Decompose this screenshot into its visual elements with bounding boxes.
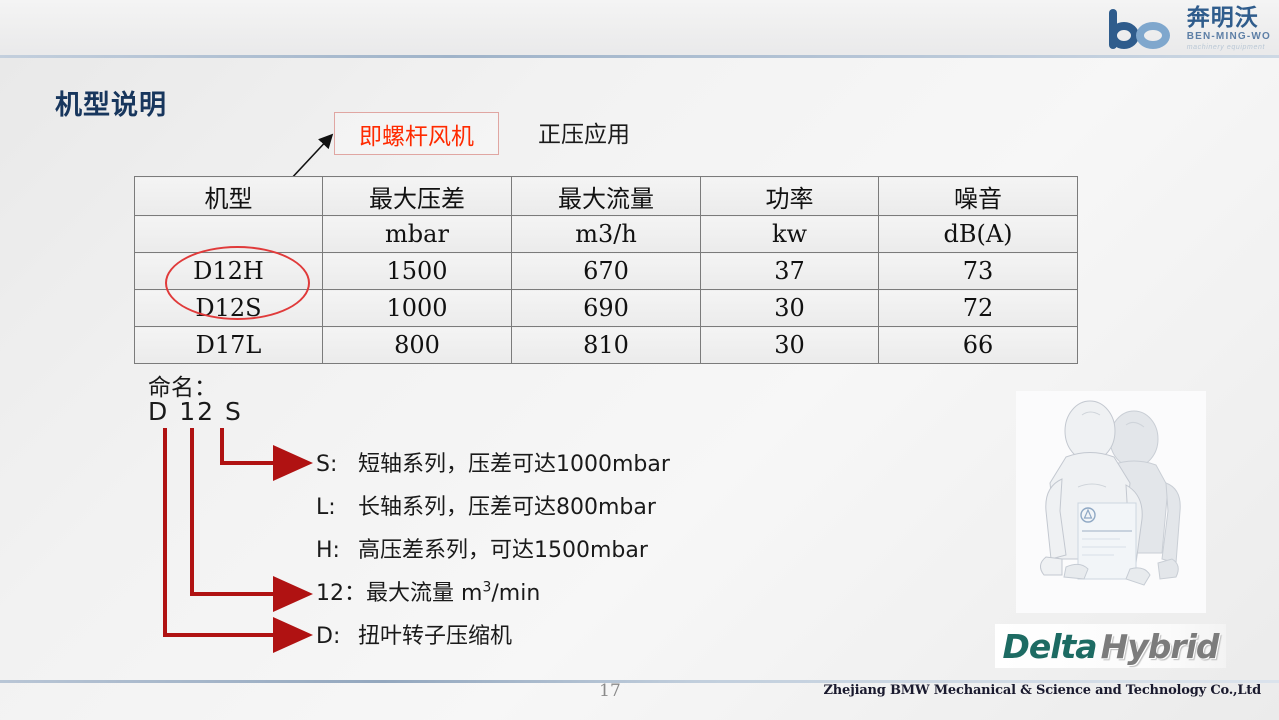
table-cell: 30 — [701, 327, 879, 364]
header-divider — [0, 55, 1279, 58]
table-unit-cell: dB(A) — [879, 216, 1078, 253]
table-header-cell: 机型 — [135, 177, 323, 216]
naming-code: D 12 S — [148, 397, 243, 426]
delta-hybrid-logo: Delta Hybrid — [995, 624, 1226, 668]
table-cell: 37 — [701, 253, 879, 290]
legend-item-s: S: 短轴系列，压差可达1000mbar — [316, 446, 956, 489]
legend-value: 短轴系列，压差可达1000mbar — [358, 446, 670, 478]
legend-item-h: H: 高压差系列，可达1500mbar — [316, 532, 956, 575]
legend-item-12: 12： 最大流量 m3/min — [316, 575, 956, 618]
table-units-row: mbar m3/h kw dB(A) — [135, 216, 1078, 253]
table-header-cell: 噪音 — [879, 177, 1078, 216]
brand-name-hybrid: Hybrid — [1101, 627, 1219, 666]
legend-item-l: L: 长轴系列，压差可达800mbar — [316, 489, 956, 532]
bo-monogram-icon — [1107, 9, 1181, 49]
company-logo: 奔明沃 BEN-MING-WO machinery equipment — [1047, 4, 1271, 54]
logo-text-block: 奔明沃 BEN-MING-WO machinery equipment — [1187, 7, 1271, 51]
table-cell: 800 — [323, 327, 512, 364]
legend-value: 高压差系列，可达1500mbar — [358, 532, 648, 564]
table-cell: 30 — [701, 290, 879, 327]
logo-tagline: machinery equipment — [1187, 44, 1265, 51]
legend-key: 12： — [316, 575, 366, 607]
legend-key: H: — [316, 538, 358, 563]
slide-canvas: 奔明沃 BEN-MING-WO machinery equipment 机型说明… — [0, 0, 1279, 720]
page-title: 机型说明 — [55, 83, 167, 122]
legend-key: S: — [316, 452, 358, 477]
legend-value: 长轴系列，压差可达800mbar — [358, 489, 656, 521]
logo-english-name: BEN-MING-WO — [1187, 32, 1271, 42]
legend-key: L: — [316, 495, 358, 520]
brand-name-delta: Delta — [1002, 627, 1096, 666]
logo-chinese-name: 奔明沃 — [1187, 7, 1259, 30]
table-unit-cell: mbar — [323, 216, 512, 253]
positive-pressure-note: 正压应用 — [538, 115, 630, 149]
table-cell: 1000 — [323, 290, 512, 327]
page-number: 17 — [590, 681, 630, 701]
table-cell: 670 — [512, 253, 701, 290]
naming-legend: S: 短轴系列，压差可达1000mbar L: 长轴系列，压差可达800mbar… — [316, 446, 956, 661]
table-cell: 72 — [879, 290, 1078, 327]
table-unit-cell: kw — [701, 216, 879, 253]
table-header-cell: 功率 — [701, 177, 879, 216]
legend-value-post: /min — [491, 581, 540, 606]
table-header-cell: 最大流量 — [512, 177, 701, 216]
legend-value: 最大流量 m3/min — [366, 575, 540, 607]
table-cell: 1500 — [323, 253, 512, 290]
highlight-ellipse — [165, 246, 310, 320]
table-cell: 690 — [512, 290, 701, 327]
table-header-cell: 最大压差 — [323, 177, 512, 216]
table-row: D17L 800 810 30 66 — [135, 327, 1078, 364]
footer-company-name: Zhejiang BMW Mechanical & Science and Te… — [823, 683, 1261, 698]
table-header-row: 机型 最大压差 最大流量 功率 噪音 — [135, 177, 1078, 216]
table-unit-cell: m3/h — [512, 216, 701, 253]
table-cell: 810 — [512, 327, 701, 364]
table-cell: 73 — [879, 253, 1078, 290]
robot-illustration-icon — [1016, 391, 1206, 613]
product-image — [1016, 391, 1206, 613]
legend-value-pre: 最大流量 m — [366, 581, 482, 606]
table-cell: 66 — [879, 327, 1078, 364]
legend-key: D: — [316, 624, 358, 649]
callout-box: 即螺杆风机 — [334, 112, 499, 155]
legend-item-d: D: 扭叶转子压缩机 — [316, 618, 956, 661]
legend-value: 扭叶转子压缩机 — [358, 618, 512, 650]
table-cell-model: D17L — [135, 327, 323, 364]
